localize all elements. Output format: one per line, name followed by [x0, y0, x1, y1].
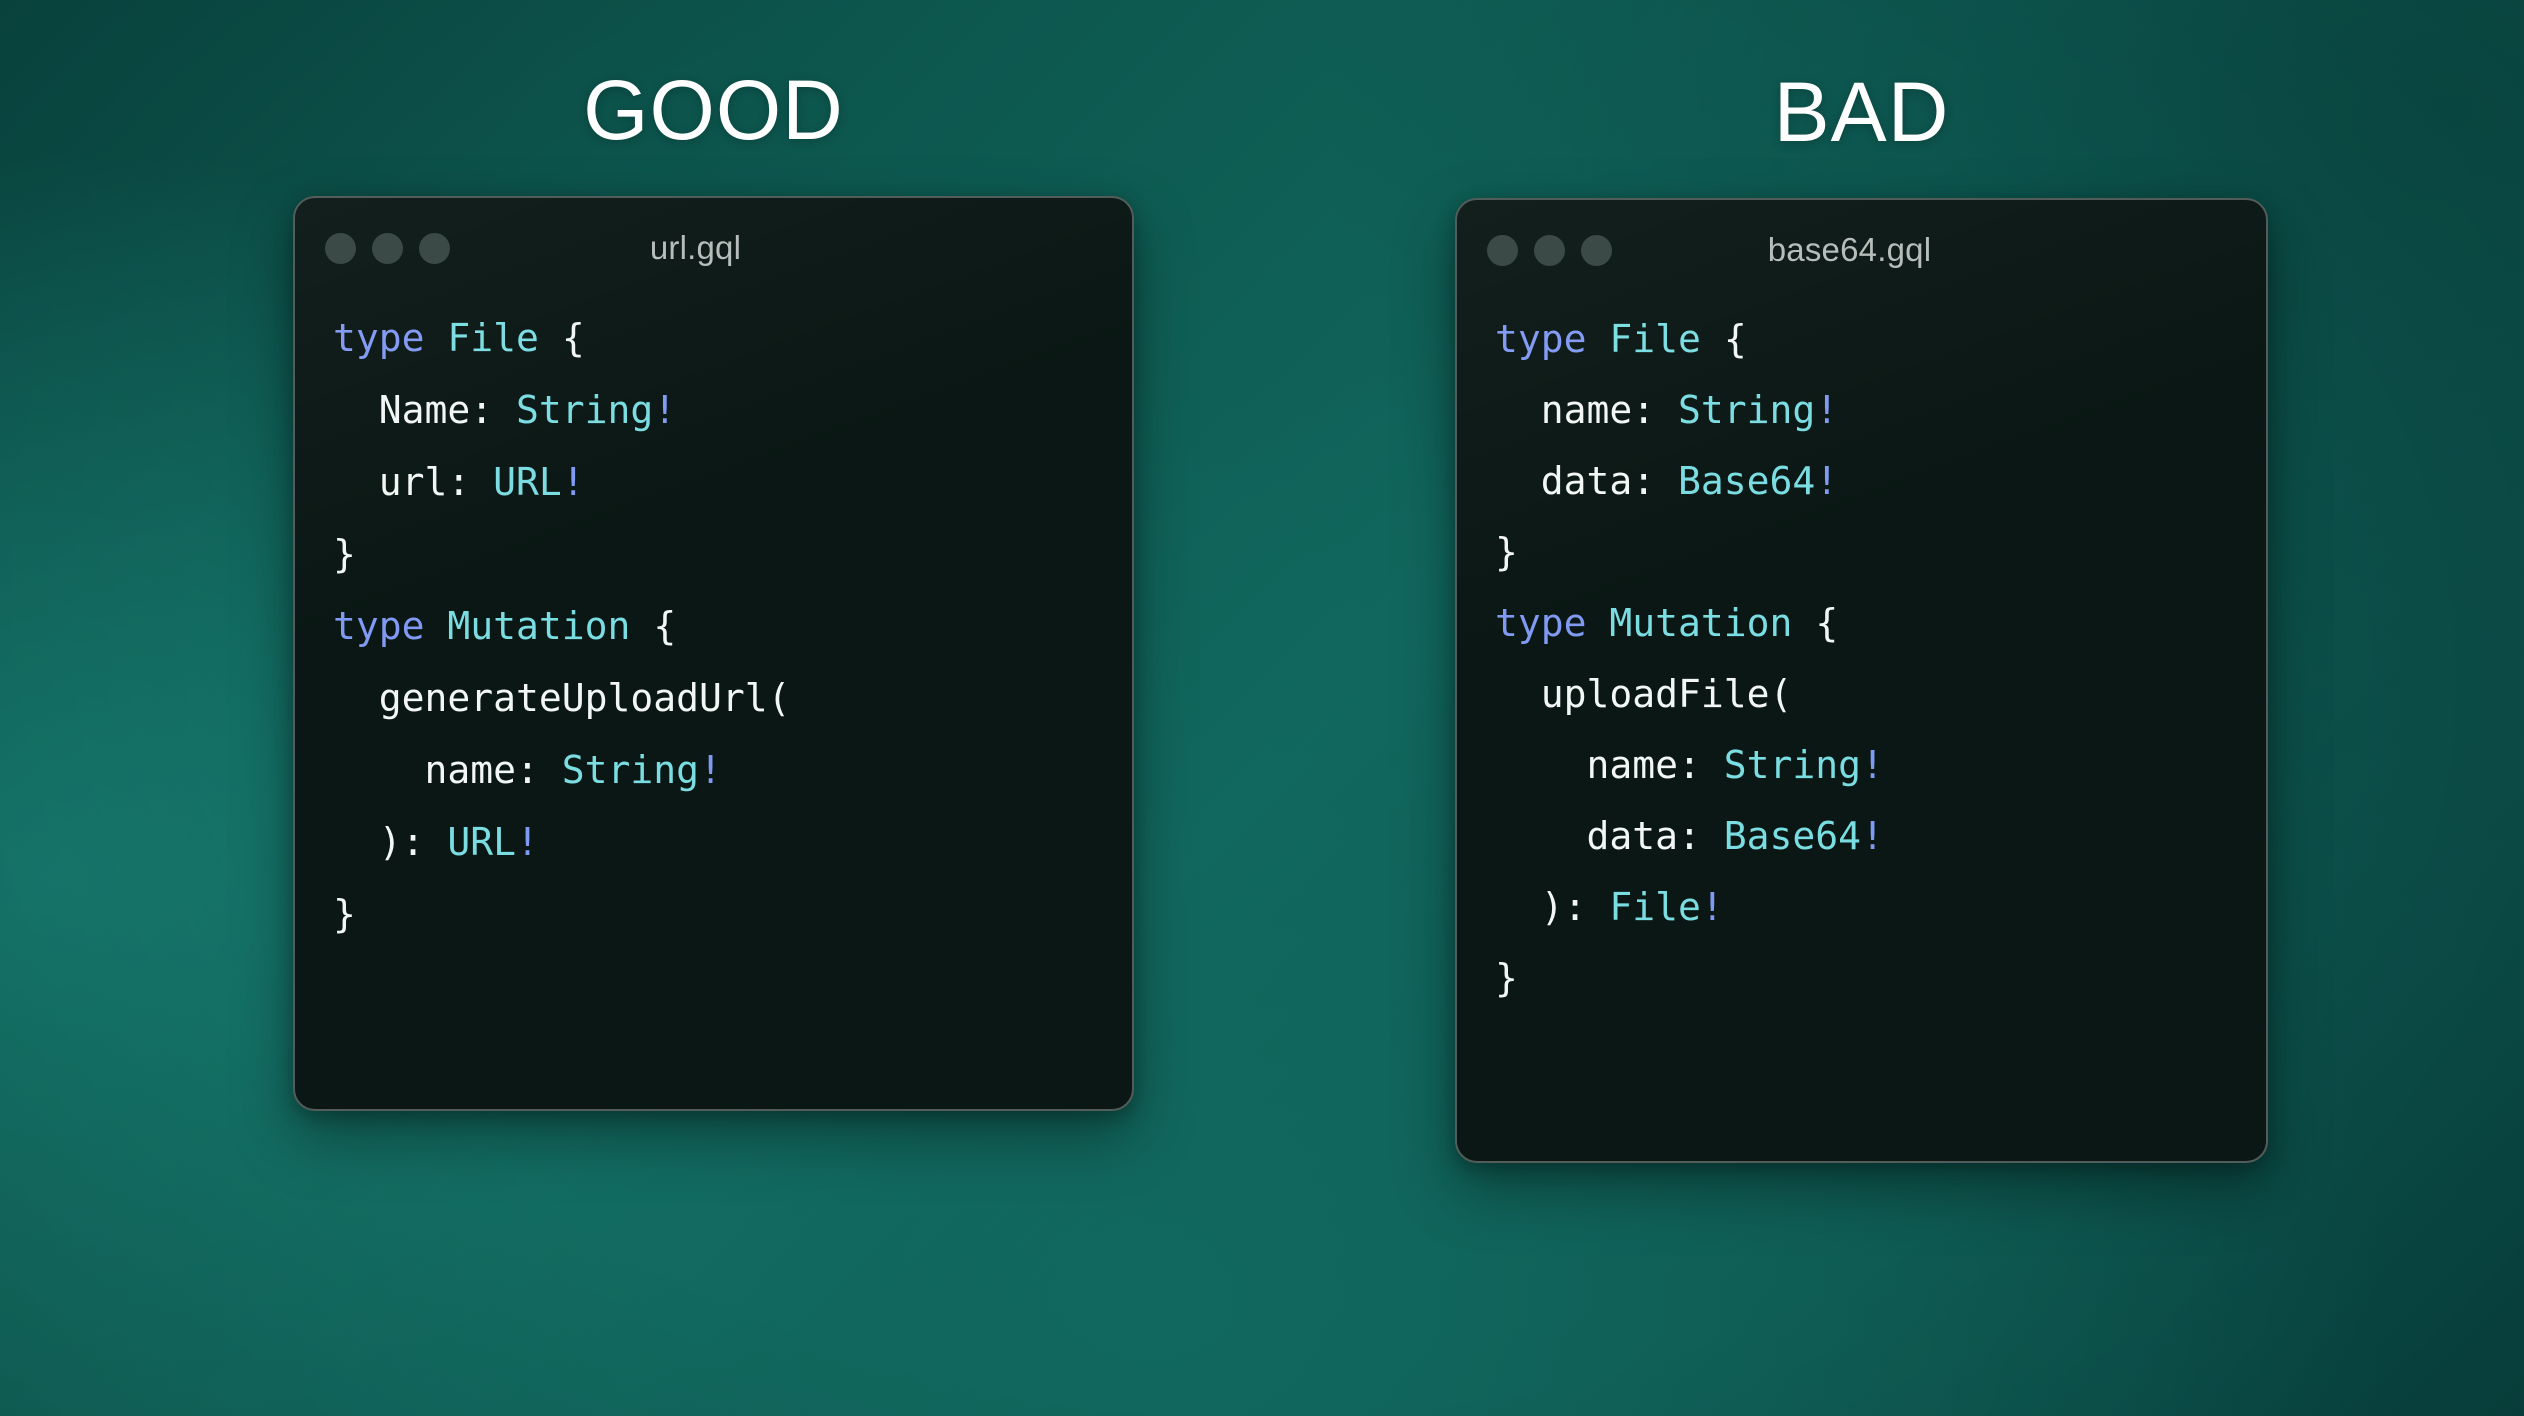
code-line: type Mutation {	[1495, 588, 2266, 659]
code-line: }	[1495, 517, 2266, 588]
code-token-type: String	[1724, 743, 1861, 787]
code-line: name: String!	[1495, 375, 2266, 446]
code-token-type: URL	[447, 820, 516, 864]
code-token-punct: }	[333, 892, 356, 936]
code-token-field: uploadFile(	[1495, 672, 1792, 716]
code-line: data: Base64!	[1495, 801, 2266, 872]
code-token-field: ):	[1495, 885, 1609, 929]
code-token-type: String	[1678, 388, 1815, 432]
code-window-bad: base64.gql type File { name: String! dat…	[1455, 198, 2268, 1163]
code-line: name: String!	[1495, 730, 2266, 801]
code-token-plain	[1587, 317, 1610, 361]
minimize-dot-icon[interactable]	[372, 233, 403, 264]
code-token-type: File	[1609, 885, 1701, 929]
code-token-punct: {	[562, 316, 585, 360]
maximize-dot-icon[interactable]	[419, 233, 450, 264]
code-line: }	[1495, 943, 2266, 1014]
code-token-type: String	[516, 388, 653, 432]
maximize-dot-icon[interactable]	[1581, 235, 1612, 266]
code-token-field: data:	[1495, 459, 1678, 503]
code-token-type: Base64	[1678, 459, 1815, 503]
code-token-plain	[425, 604, 448, 648]
code-token-field: name:	[1495, 388, 1678, 432]
close-dot-icon[interactable]	[1487, 235, 1518, 266]
comparison-column-bad: BAD base64.gql type File { name: String!…	[1455, 0, 2268, 1163]
code-line: }	[333, 518, 1132, 590]
traffic-lights-good	[325, 233, 450, 264]
close-dot-icon[interactable]	[325, 233, 356, 264]
code-token-kw: type	[333, 316, 425, 360]
code-line: name: String!	[333, 734, 1132, 806]
code-token-field: name:	[333, 748, 562, 792]
code-line: type File {	[1495, 304, 2266, 375]
code-token-punct: {	[1724, 317, 1747, 361]
code-token-type: Mutation	[1609, 601, 1792, 645]
column-heading-good: GOOD	[293, 68, 1134, 152]
code-token-kw: type	[333, 604, 425, 648]
code-token-plain	[630, 604, 653, 648]
code-token-field: data:	[1495, 814, 1724, 858]
code-token-plain	[539, 316, 562, 360]
code-token-bang: !	[1861, 743, 1884, 787]
code-token-type: File	[1609, 317, 1701, 361]
code-token-type: String	[562, 748, 699, 792]
code-block-bad: type File { name: String! data: Base64!}…	[1457, 300, 2266, 1014]
code-token-bang: !	[699, 748, 722, 792]
code-token-plain	[1701, 317, 1724, 361]
code-token-plain	[1792, 601, 1815, 645]
code-token-punct: {	[653, 604, 676, 648]
window-titlebar-bad: base64.gql	[1457, 200, 2266, 300]
code-line: ): URL!	[333, 806, 1132, 878]
code-token-field: name:	[1495, 743, 1724, 787]
code-token-bang: !	[1815, 459, 1838, 503]
code-token-punct: }	[1495, 956, 1518, 1000]
comparison-column-good: GOOD url.gql type File { Name: String! u…	[293, 0, 1134, 1111]
code-line: Name: String!	[333, 374, 1132, 446]
traffic-lights-bad	[1487, 235, 1612, 266]
code-token-type: File	[447, 316, 539, 360]
code-line: }	[333, 878, 1132, 950]
code-token-type: Base64	[1724, 814, 1861, 858]
code-token-type: URL	[493, 460, 562, 504]
code-token-field: generateUploadUrl(	[333, 676, 791, 720]
code-token-punct: }	[1495, 530, 1518, 574]
code-token-punct: }	[333, 532, 356, 576]
code-token-bang: !	[1861, 814, 1884, 858]
code-token-bang: !	[516, 820, 539, 864]
code-line: type File {	[333, 302, 1132, 374]
code-token-kw: type	[1495, 317, 1587, 361]
code-window-good: url.gql type File { Name: String! url: U…	[293, 196, 1134, 1111]
code-token-bang: !	[1815, 388, 1838, 432]
code-token-plain	[425, 316, 448, 360]
window-titlebar-good: url.gql	[295, 198, 1132, 298]
minimize-dot-icon[interactable]	[1534, 235, 1565, 266]
code-token-field: url:	[333, 460, 493, 504]
column-heading-bad: BAD	[1455, 70, 2268, 154]
code-token-bang: !	[653, 388, 676, 432]
comparison-stage: GOOD url.gql type File { Name: String! u…	[0, 0, 2524, 1416]
code-token-punct: {	[1815, 601, 1838, 645]
code-token-field: ):	[333, 820, 447, 864]
code-token-field: Name:	[333, 388, 516, 432]
code-block-good: type File { Name: String! url: URL!}type…	[295, 298, 1132, 950]
code-line: type Mutation {	[333, 590, 1132, 662]
code-line: generateUploadUrl(	[333, 662, 1132, 734]
code-token-plain	[1587, 601, 1610, 645]
code-line: uploadFile(	[1495, 659, 2266, 730]
code-token-bang: !	[1701, 885, 1724, 929]
code-token-bang: !	[562, 460, 585, 504]
code-line: ): File!	[1495, 872, 2266, 943]
code-token-type: Mutation	[447, 604, 630, 648]
code-token-kw: type	[1495, 601, 1587, 645]
code-line: data: Base64!	[1495, 446, 2266, 517]
code-line: url: URL!	[333, 446, 1132, 518]
